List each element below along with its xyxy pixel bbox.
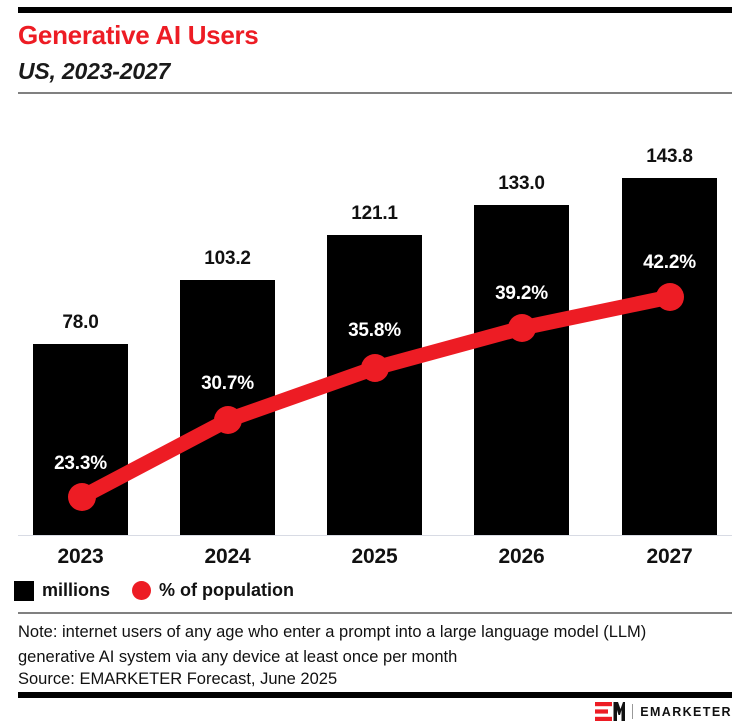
x-tick-2026: 2026: [474, 545, 569, 569]
x-tick-2024: 2024: [180, 545, 275, 569]
legend-item-percent-of-population: % of population: [132, 580, 294, 601]
chart-page: Generative AI Users US, 2023-2027 78.0 1…: [0, 0, 750, 724]
bar-2026: [474, 205, 569, 535]
em-monogram-icon: [595, 702, 625, 721]
legend-divider: [18, 612, 732, 614]
circle-swatch-icon: [132, 581, 151, 600]
chart-note: Note: internet users of any age who ente…: [18, 620, 718, 670]
brand-divider: [632, 704, 633, 719]
brand-logo: EMARKETER: [595, 702, 732, 721]
chart-plot-area: 78.0 103.2 121.1 133.0 143.8 23.3% 30.7%…: [0, 0, 750, 724]
pct-label-2025: 35.8%: [327, 320, 422, 342]
brand-name: EMARKETER: [640, 705, 732, 719]
bar-2025: [327, 235, 422, 535]
x-tick-2023: 2023: [33, 545, 128, 569]
pct-label-2027: 42.2%: [622, 252, 717, 274]
pct-label-2026: 39.2%: [474, 283, 569, 305]
legend-item-millions: millions: [14, 580, 110, 601]
bar-2027: [622, 178, 717, 535]
bar-value-2024: 103.2: [180, 248, 275, 270]
bar-value-2026: 133.0: [474, 173, 569, 195]
x-tick-2027: 2027: [622, 545, 717, 569]
legend-label-percent: % of population: [159, 580, 294, 601]
bar-value-2023: 78.0: [33, 312, 128, 334]
bar-value-2027: 143.8: [622, 146, 717, 168]
x-tick-2025: 2025: [327, 545, 422, 569]
square-swatch-icon: [14, 581, 34, 601]
bottom-rule: [18, 692, 732, 698]
pct-label-2024: 30.7%: [180, 373, 275, 395]
pct-label-2023: 23.3%: [33, 453, 128, 475]
bar-value-2025: 121.1: [327, 203, 422, 225]
chart-source: Source: EMARKETER Forecast, June 2025: [18, 670, 337, 689]
x-axis-line: [18, 535, 732, 536]
bar-2024: [180, 280, 275, 535]
chart-legend: millions % of population: [14, 580, 294, 601]
legend-label-millions: millions: [42, 580, 110, 601]
bar-2023: [33, 344, 128, 535]
